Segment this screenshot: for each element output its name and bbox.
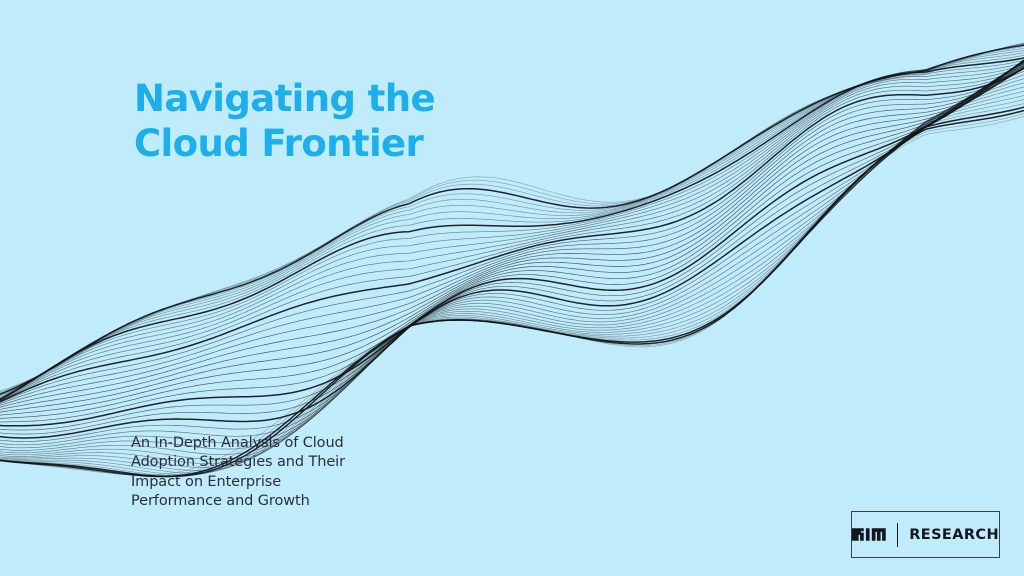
wave-line — [0, 14, 1024, 418]
logo-divider — [897, 523, 898, 547]
slide-canvas: Navigating the Cloud Frontier An In-Dept… — [0, 0, 1024, 576]
aim-logo-icon — [852, 526, 886, 543]
title-line-1: Navigating the — [134, 76, 435, 121]
wave-line — [0, 14, 1024, 418]
page-title: Navigating the Cloud Frontier — [134, 76, 435, 166]
page-subtitle: An In-Depth Analysis of Cloud Adoption S… — [131, 434, 345, 512]
title-line-2: Cloud Frontier — [134, 121, 435, 166]
brand-logo: RESEARCH — [851, 511, 1000, 558]
logo-wordmark: RESEARCH — [909, 527, 999, 543]
subtitle-line-4: Performance and Growth — [131, 492, 345, 511]
wave-line — [0, 14, 1024, 418]
subtitle-line-3: Impact on Enterprise — [131, 473, 345, 492]
subtitle-line-2: Adoption Strategies and Their — [131, 453, 345, 472]
subtitle-line-1: An In-Depth Analysis of Cloud — [131, 434, 345, 453]
